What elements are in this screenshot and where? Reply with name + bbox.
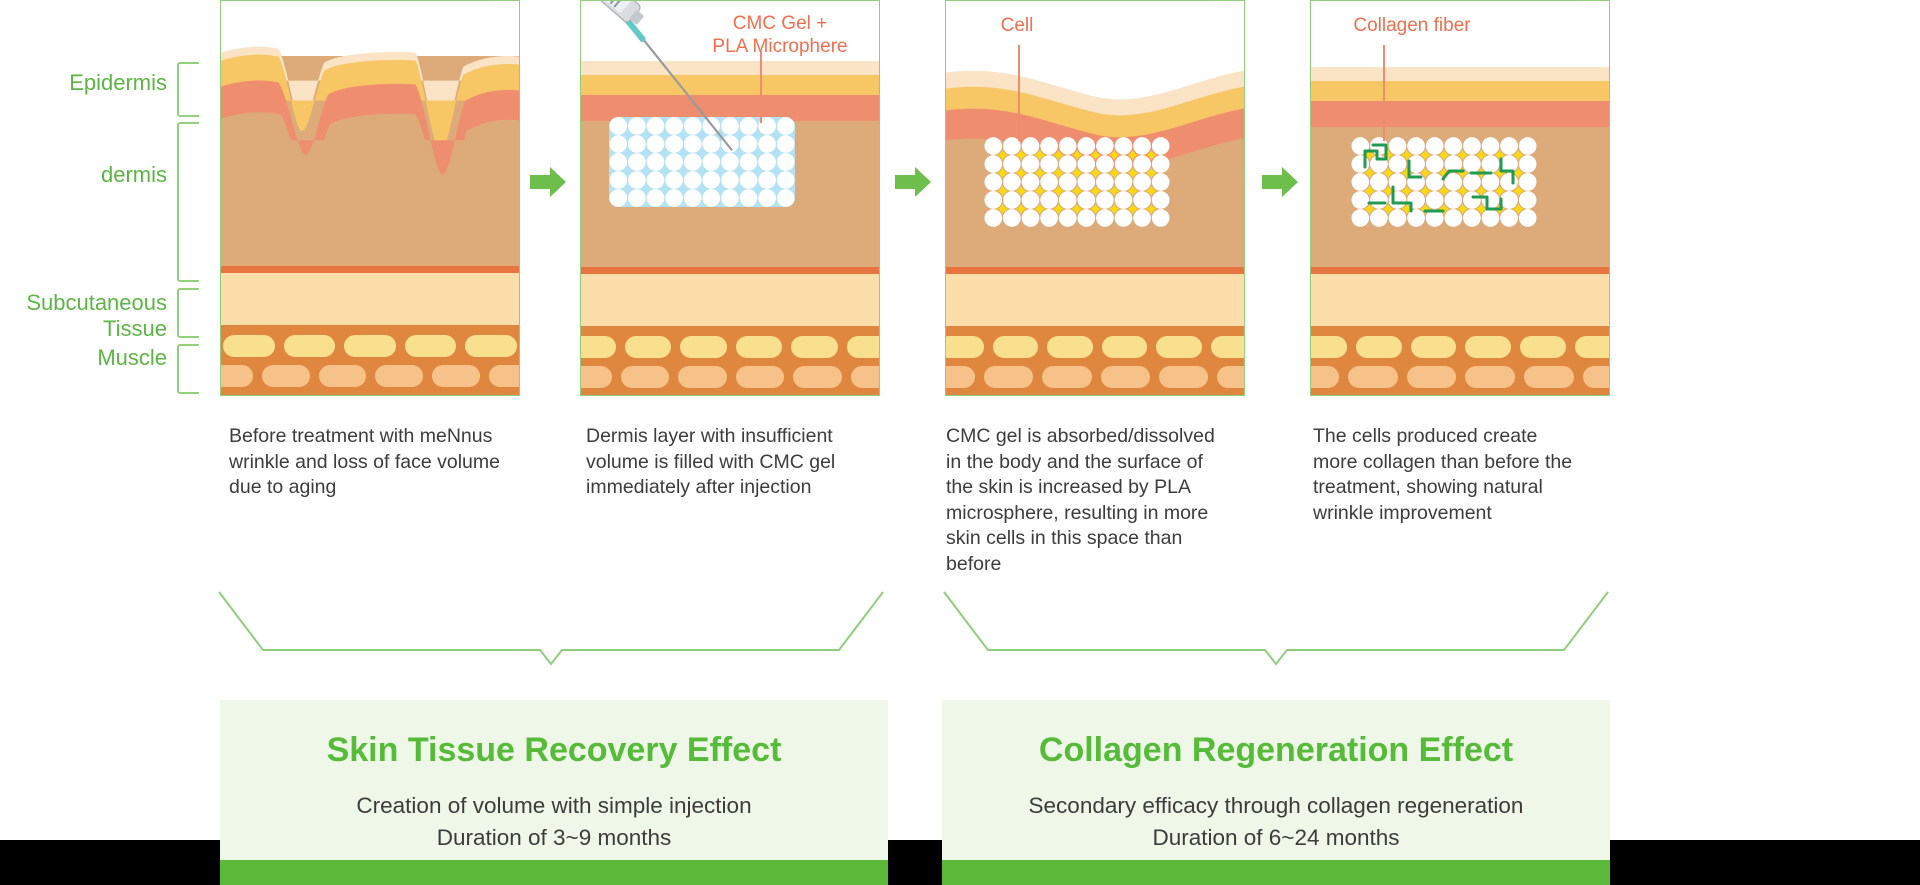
summary-box-skin-tissue-recovery: Skin Tissue Recovery Effect Creation of … <box>220 700 888 860</box>
diagram-canvas: Epidermis dermis Subcutaneous Tissue Mus… <box>0 0 1920 885</box>
cell-circle <box>1040 191 1058 209</box>
muscle-brick <box>984 366 1033 388</box>
cell-circle <box>1152 191 1170 209</box>
muscle-brick-row-bottom-3 <box>945 366 1245 388</box>
muscle-brick <box>1524 366 1574 388</box>
subcutaneous-layer-3 <box>946 274 1244 326</box>
cell-circle <box>1096 137 1114 155</box>
cell-circle <box>1115 155 1133 173</box>
epidermis-cream-4 <box>1311 67 1609 81</box>
cell-circle <box>1022 155 1040 173</box>
cell-circle <box>1040 137 1058 155</box>
subcutaneous-layer-1 <box>221 273 519 325</box>
cell-circle <box>1059 137 1077 155</box>
cell-circle <box>1096 191 1114 209</box>
muscle-brick <box>945 366 975 388</box>
muscle-brick <box>945 336 984 358</box>
cell-circle <box>1133 209 1151 227</box>
cell-circle <box>1152 209 1170 227</box>
muscle-brick-row-top-1 <box>221 335 519 357</box>
cell-circle <box>1096 209 1114 227</box>
muscle-brick <box>489 365 520 387</box>
cell-circle <box>1059 155 1077 173</box>
summary-subtitle-collagen-regeneration: Secondary efficacy through collagen rege… <box>942 790 1610 854</box>
epidermis-gold-4 <box>1311 81 1609 101</box>
cell-grid-3 <box>984 137 1170 227</box>
muscle-brick <box>1310 366 1339 388</box>
subcutaneous-layer-4 <box>1311 274 1609 326</box>
connector-bracket-left <box>215 588 887 668</box>
cell-circle <box>1003 173 1021 191</box>
cell-circle <box>1133 173 1151 191</box>
caption-panel-4: The cells produced create more collagen … <box>1313 424 1585 526</box>
cell-circle <box>1077 173 1095 191</box>
muscle-brick-row-top-4 <box>1310 336 1610 358</box>
muscle-brick <box>1156 336 1202 358</box>
cell-circle <box>1152 173 1170 191</box>
muscle-brick <box>1042 366 1091 388</box>
cell-circle <box>1040 209 1058 227</box>
muscle-brick <box>1465 366 1515 388</box>
muscle-brick <box>993 336 1039 358</box>
layer-label-dermis: dermis <box>101 162 167 188</box>
callout-cell: Cell <box>977 14 1057 37</box>
cell-block-3 <box>984 137 1170 227</box>
muscle-brick <box>1101 366 1150 388</box>
cell-circle <box>1077 137 1095 155</box>
muscle-brick <box>1348 366 1398 388</box>
epidermis-salmon-4 <box>1311 101 1609 127</box>
flow-arrow-1 <box>530 167 566 197</box>
cell-circle <box>984 137 1002 155</box>
cell-circle <box>1022 173 1040 191</box>
cell-block-4 <box>1351 137 1537 227</box>
summary-subtitle-skin-tissue-recovery: Creation of volume with simple injection… <box>220 790 888 854</box>
dermis-subcut-divider-1 <box>221 266 519 273</box>
layer-label-column: Epidermis dermis Subcutaneous Tissue Mus… <box>0 50 205 395</box>
cell-circle <box>1077 155 1095 173</box>
muscle-brick <box>1217 366 1245 388</box>
muscle-brick-row-top-3 <box>945 336 1245 358</box>
cell-circle <box>1022 209 1040 227</box>
muscle-brick <box>262 365 310 387</box>
muscle-brick <box>220 365 253 387</box>
muscle-brick <box>319 365 367 387</box>
summary-title-collagen-regeneration: Collagen Regeneration Effect <box>942 730 1610 770</box>
muscle-brick <box>1211 336 1246 358</box>
muscle-brick-row-bottom-1 <box>220 365 520 387</box>
muscle-brick <box>1583 366 1610 388</box>
cell-circle <box>984 173 1002 191</box>
muscle-brick <box>1411 336 1457 358</box>
callout-cmc-gel: CMC Gel + PLA Microphere <box>690 12 870 58</box>
callout-collagen-fiber: Collagen fiber <box>1322 14 1502 37</box>
cell-circle <box>1115 137 1133 155</box>
muscle-brick <box>1356 336 1402 358</box>
cell-circle <box>1022 137 1040 155</box>
caption-panel-3: CMC gel is absorbed/dissolved in the bod… <box>946 424 1218 577</box>
cell-circle <box>1003 191 1021 209</box>
panel-1 <box>220 0 520 396</box>
cell-circle <box>1022 191 1040 209</box>
cell-circle <box>1040 173 1058 191</box>
caption-panel-2: Dermis layer with insufficient volume is… <box>586 424 858 501</box>
bracket-epidermis <box>177 62 199 117</box>
muscle-brick <box>432 365 480 387</box>
bracket-subcutaneous <box>177 288 199 338</box>
muscle-brick <box>344 335 396 357</box>
muscle-brick <box>375 365 423 387</box>
panel-4 <box>1310 0 1610 396</box>
muscle-brick <box>405 335 457 357</box>
cell-circle <box>1077 209 1095 227</box>
muscle-brick <box>284 335 336 357</box>
muscle-brick <box>465 335 517 357</box>
cell-circle <box>1133 155 1151 173</box>
cell-circle <box>1059 191 1077 209</box>
syringe-assembly <box>581 1 879 395</box>
muscle-brick <box>1575 336 1610 358</box>
layer-label-muscle: Muscle <box>97 345 167 371</box>
flow-arrow-3 <box>1262 167 1298 197</box>
cell-circle <box>984 209 1002 227</box>
cell-circle <box>1133 137 1151 155</box>
muscle-brick <box>1310 336 1347 358</box>
layer-label-subcutaneous: Subcutaneous Tissue <box>26 290 167 342</box>
cell-circle <box>984 191 1002 209</box>
muscle-brick <box>1047 336 1093 358</box>
connector-bracket-right <box>940 588 1612 668</box>
cell-circle <box>1003 209 1021 227</box>
cell-circle <box>1059 173 1077 191</box>
panel-2 <box>580 0 880 396</box>
dermis-subcut-divider-3 <box>946 267 1244 274</box>
dermis-subcut-divider-4 <box>1311 267 1609 274</box>
leader-line-cell <box>1018 45 1020 141</box>
caption-panel-1: Before treatment with meNnus wrinkle and… <box>229 424 501 501</box>
summary-box-collagen-regeneration: Collagen Regeneration Effect Secondary e… <box>942 700 1610 860</box>
cell-circle <box>1003 155 1021 173</box>
summary-title-skin-tissue-recovery: Skin Tissue Recovery Effect <box>220 730 888 770</box>
cell-circle <box>1059 209 1077 227</box>
cell-circle <box>1115 173 1133 191</box>
cell-circle <box>1077 191 1095 209</box>
muscle-brick <box>1159 366 1208 388</box>
leader-line-cmc-gel <box>760 51 762 123</box>
muscle-brick <box>1520 336 1566 358</box>
bracket-dermis <box>177 122 199 282</box>
cell-circle <box>1152 137 1170 155</box>
bracket-muscle <box>177 344 199 394</box>
muscle-brick <box>223 335 275 357</box>
collagen-fiber-overlay <box>1351 137 1537 227</box>
muscle-brick <box>1465 336 1511 358</box>
flow-arrow-2 <box>895 167 931 197</box>
leader-line-collagen <box>1383 45 1385 141</box>
muscle-brick-row-bottom-4 <box>1310 366 1610 388</box>
muscle-brick <box>1407 366 1457 388</box>
cell-circle <box>1040 155 1058 173</box>
cell-circle <box>1152 155 1170 173</box>
cell-circle <box>1096 173 1114 191</box>
panel-3 <box>945 0 1245 396</box>
cell-circle <box>1096 155 1114 173</box>
muscle-brick <box>1102 336 1148 358</box>
cell-circle <box>1115 209 1133 227</box>
layer-label-epidermis: Epidermis <box>69 70 167 96</box>
cell-circle <box>984 155 1002 173</box>
cell-circle <box>1133 191 1151 209</box>
cell-circle <box>1115 191 1133 209</box>
